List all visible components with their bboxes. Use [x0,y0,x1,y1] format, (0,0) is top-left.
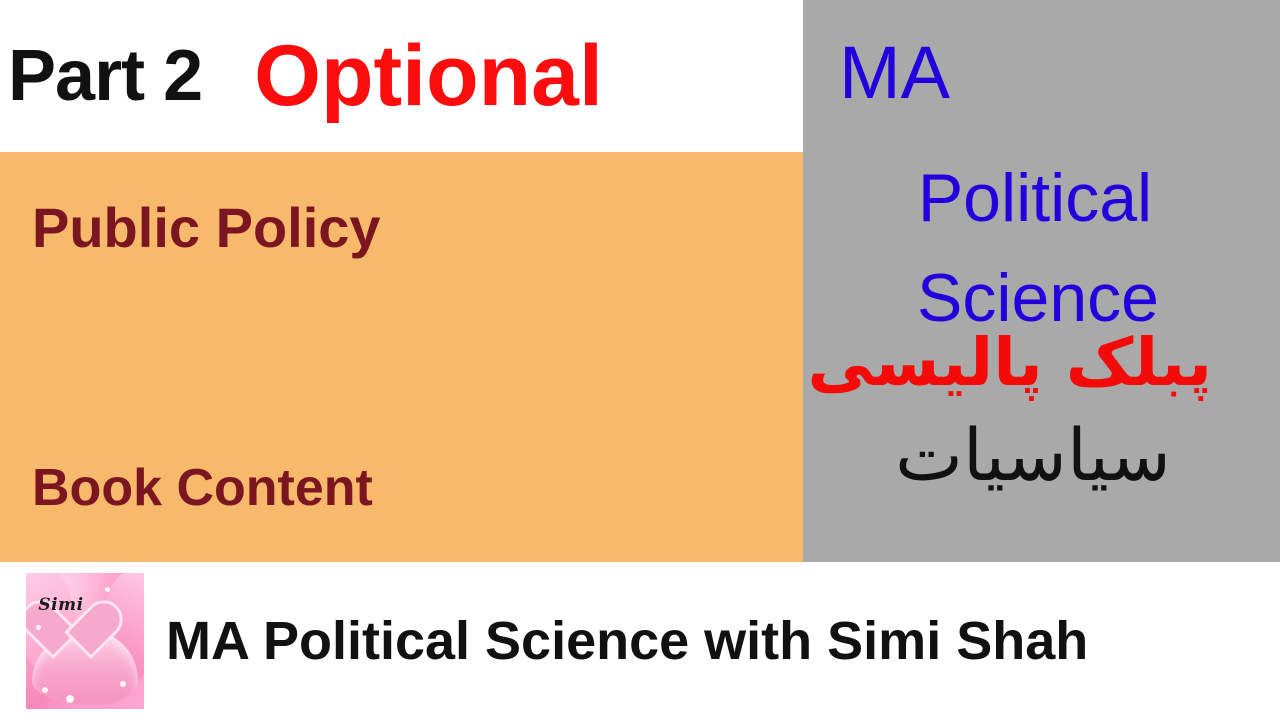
right-degree-panel-content: MA Political Science سیاسیات [803,0,1280,562]
channel-title: MA Political Science with Simi Shah [166,614,1088,668]
logo-heart-text: Simi [26,595,96,615]
degree-name-urdu: سیاسیات [803,412,1263,498]
part-label: Part 2 [8,40,202,112]
slide-canvas: Part 2 Optional Public Policy پبلک پالیس… [0,0,1280,720]
degree-name-line-2: Science [803,258,1273,340]
optional-label: Optional [254,33,603,119]
sparkle-icon [66,695,74,703]
footer-row: Simi MA Political Science with Simi Shah [0,562,1280,720]
book-content-label: Book Content [32,462,373,514]
sparkle-icon [105,587,110,592]
header-row: Part 2 Optional [0,0,803,152]
subject-title-english: Public Policy [32,200,381,256]
simi-heart-logo-icon: Simi [26,573,144,709]
degree-name-line-1: Political [803,158,1267,240]
degree-abbreviation: MA [839,36,950,110]
sparkle-icon [120,681,126,687]
sparkle-icon [42,687,48,693]
sparkle-icon [36,625,41,630]
